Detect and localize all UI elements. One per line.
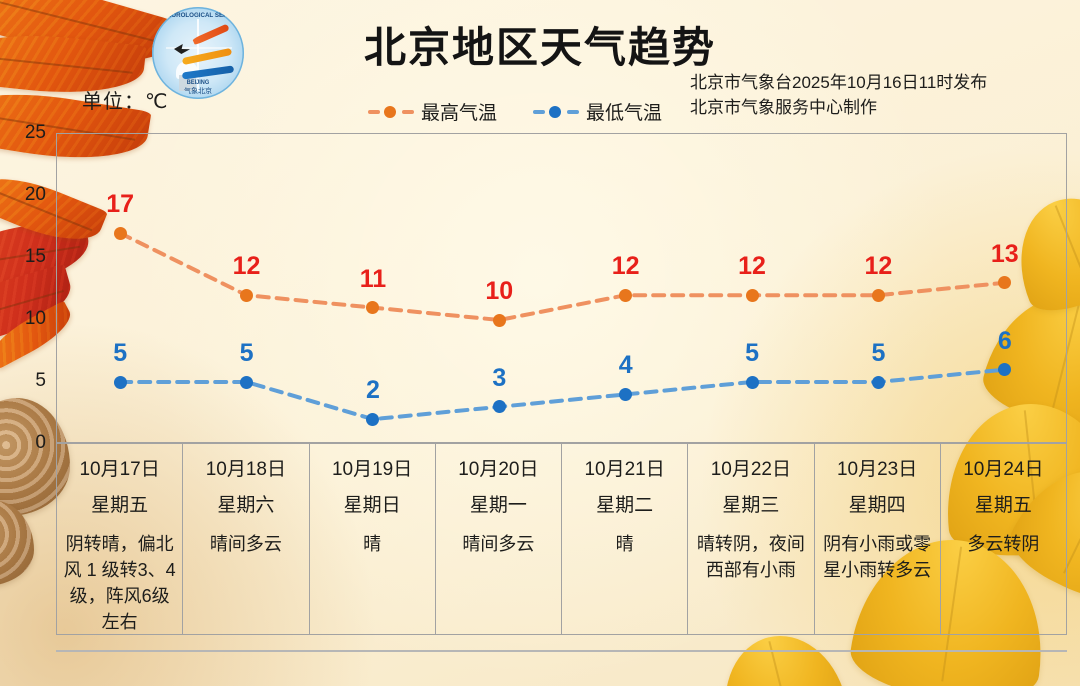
forecast-column[interactable]: 10月17日星期五阴转晴，偏北风 1 级转3、4级，阵风6级左右 <box>57 444 183 634</box>
high-temp-value-label: 12 <box>612 252 640 281</box>
forecast-weekday: 星期六 <box>187 493 304 519</box>
issue-line-2: 北京市气象服务中心制作 <box>690 95 987 120</box>
forecast-weekday: 星期五 <box>945 493 1062 519</box>
high-temp-point <box>366 301 379 314</box>
forecast-weekday: 星期四 <box>819 493 936 519</box>
low-temp-value-label: 5 <box>871 339 885 368</box>
forecast-weather-description: 多云转阴 <box>945 531 1062 557</box>
forecast-date: 10月22日 <box>692 457 809 483</box>
high-temp-point <box>240 289 253 302</box>
high-temp-point <box>872 289 885 302</box>
y-axis-tick-label: 15 <box>25 246 46 268</box>
forecast-column[interactable]: 10月18日星期六晴间多云 <box>183 444 309 634</box>
forecast-weather-description: 阴转晴，偏北风 1 级转3、4级，阵风6级左右 <box>61 531 178 635</box>
high-temp-value-label: 11 <box>360 265 386 294</box>
forecast-date: 10月18日 <box>187 457 304 483</box>
forecast-weekday: 星期日 <box>314 493 431 519</box>
chart-legend: 最高气温 最低气温 <box>368 98 662 125</box>
low-temp-value-label: 6 <box>998 327 1012 356</box>
y-axis-tick-label: 25 <box>25 122 46 144</box>
legend-label-low: 最低气温 <box>586 98 662 125</box>
forecast-weekday: 星期一 <box>440 493 557 519</box>
y-axis-tick-label: 20 <box>25 184 46 206</box>
forecast-weekday: 星期五 <box>61 493 178 519</box>
unit-label: 单位：℃ <box>82 85 168 114</box>
y-axis: 2520151050 <box>0 125 54 451</box>
low-temp-point <box>493 400 506 413</box>
high-temp-value-label: 12 <box>738 252 766 281</box>
forecast-date: 10月19日 <box>314 457 431 483</box>
high-temp-value-label: 13 <box>991 240 1019 269</box>
forecast-weather-description: 晴间多云 <box>187 531 304 557</box>
low-temp-point <box>998 363 1011 376</box>
forecast-weather-description: 晴 <box>566 531 683 557</box>
forecast-column[interactable]: 10月22日星期三晴转阴，夜间西部有小雨 <box>688 444 814 634</box>
y-axis-tick-label: 5 <box>35 370 46 392</box>
low-temp-point <box>240 376 253 389</box>
forecast-table: 10月17日星期五阴转晴，偏北风 1 级转3、4级，阵风6级左右10月18日星期… <box>56 443 1067 635</box>
forecast-weather-description: 阴有小雨或零星小雨转多云 <box>819 531 936 583</box>
forecast-column[interactable]: 10月19日星期日晴 <box>310 444 436 634</box>
forecast-date: 10月24日 <box>945 457 1062 483</box>
weather-trend-poster: METEOROLOGICAL SERVICE BEIJING 气象北京 单位：℃… <box>0 0 1080 686</box>
high-temp-value-label: 17 <box>106 190 134 219</box>
high-temp-point <box>619 289 632 302</box>
forecast-date: 10月23日 <box>819 457 936 483</box>
high-temp-point <box>493 314 506 327</box>
low-temp-value-label: 4 <box>619 351 633 380</box>
low-temp-point <box>746 376 759 389</box>
issue-info: 北京市气象台2025年10月16日11时发布 北京市气象服务中心制作 <box>690 70 987 120</box>
low-temp-point <box>872 376 885 389</box>
high-temp-value-label: 12 <box>233 252 261 281</box>
legend-marker-low-icon <box>533 104 579 120</box>
poster-header: METEOROLOGICAL SERVICE BEIJING 气象北京 单位：℃… <box>0 0 1080 128</box>
forecast-date: 10月20日 <box>440 457 557 483</box>
high-temp-value-label: 12 <box>865 252 893 281</box>
low-temp-point <box>366 413 379 426</box>
low-temp-value-label: 5 <box>745 339 759 368</box>
low-temp-point <box>619 388 632 401</box>
y-axis-tick-label: 0 <box>35 432 46 454</box>
low-temp-value-label: 3 <box>492 364 506 393</box>
page-title: 北京地区天气趋势 <box>330 14 750 75</box>
forecast-column[interactable]: 10月24日星期五多云转阴 <box>941 444 1066 634</box>
high-temp-point <box>998 276 1011 289</box>
legend-label-high: 最高气温 <box>421 98 497 125</box>
forecast-column[interactable]: 10月20日星期一晴间多云 <box>436 444 562 634</box>
forecast-date: 10月21日 <box>566 457 683 483</box>
legend-marker-high-icon <box>368 104 414 120</box>
chart-plot-area: 171211101212121355234556 <box>56 133 1067 443</box>
forecast-date: 10月17日 <box>61 457 178 483</box>
forecast-weather-description: 晴 <box>314 531 431 557</box>
y-axis-tick-label: 10 <box>25 308 46 330</box>
low-temp-value-label: 5 <box>240 339 254 368</box>
high-temp-point <box>114 227 127 240</box>
series-markers-layer: 171211101212121355234556 <box>57 134 1066 442</box>
issue-line-1: 北京市气象台2025年10月16日11时发布 <box>690 70 987 95</box>
logo-arc-top-text: METEOROLOGICAL SERVICE <box>152 12 244 20</box>
low-temp-value-label: 5 <box>113 339 127 368</box>
forecast-weather-description: 晴间多云 <box>440 531 557 557</box>
high-temp-value-label: 10 <box>485 277 513 306</box>
bottom-frame-rule <box>56 650 1067 652</box>
forecast-weekday: 星期三 <box>692 493 809 519</box>
forecast-column[interactable]: 10月21日星期二晴 <box>562 444 688 634</box>
high-temp-point <box>746 289 759 302</box>
forecast-column[interactable]: 10月23日星期四阴有小雨或零星小雨转多云 <box>815 444 941 634</box>
low-temp-value-label: 2 <box>366 376 380 405</box>
legend-item-low-temp: 最低气温 <box>533 98 662 125</box>
low-temp-point <box>114 376 127 389</box>
forecast-weather-description: 晴转阴，夜间西部有小雨 <box>692 531 809 583</box>
forecast-weekday: 星期二 <box>566 493 683 519</box>
pine-cone-icon <box>0 500 34 586</box>
legend-item-high-temp: 最高气温 <box>368 98 497 125</box>
